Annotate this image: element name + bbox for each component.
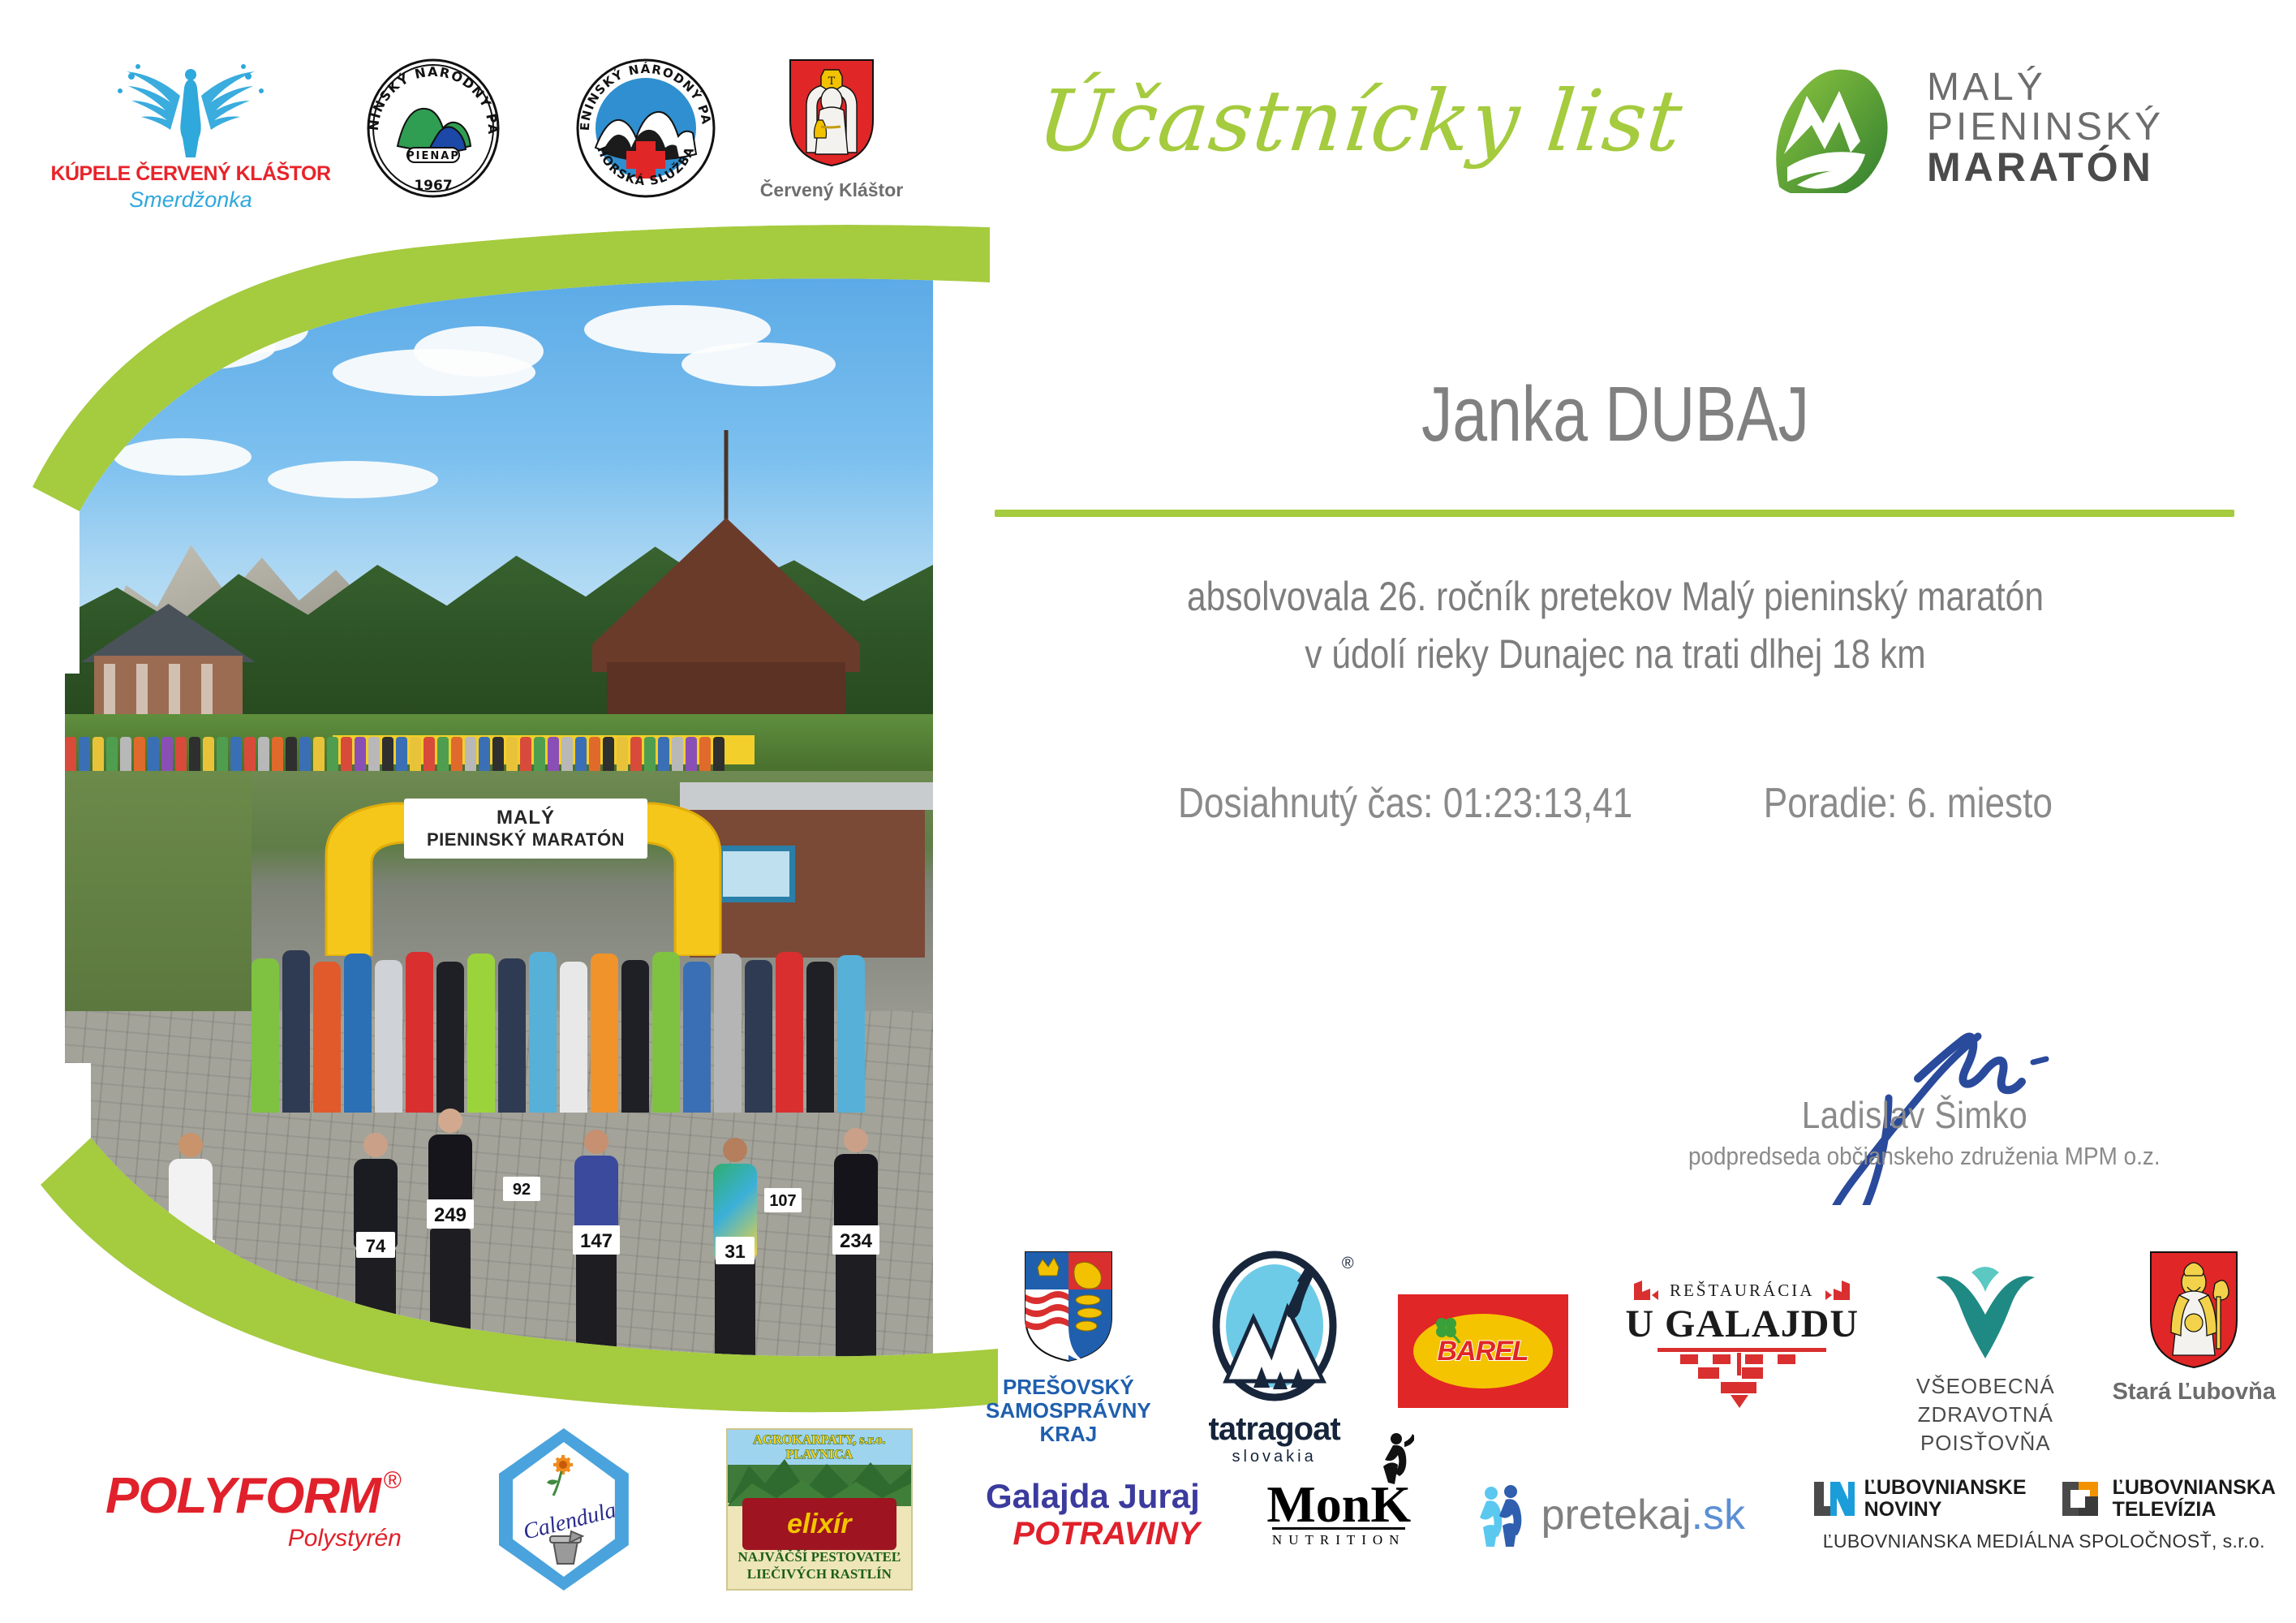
folk-embroidery-icon xyxy=(1653,1346,1831,1410)
runner: 209 xyxy=(162,1133,219,1376)
media-company-footer: ĽUBOVNIANSKA MEDIÁLNA SPOLOČNOSŤ, s.r.o. xyxy=(1823,1530,2265,1552)
photo-crowd xyxy=(65,721,933,771)
signature-block: Ladislav Šimko podpredseda občianskeho z… xyxy=(1663,1018,2166,1171)
horska-sluzba-emblem-icon: PIENINSKÝ NÁRODNÝ PARK HORSKÁ SLUŽBA xyxy=(574,57,717,200)
kck-name: KÚPELE ČERVENÝ KLÁŠTOR xyxy=(50,162,330,186)
sponsor-monk-nutrition: MonK NUTRITION xyxy=(1266,1481,1411,1549)
placement: Poradie: 6. miesto xyxy=(1764,779,2053,828)
runner-bib: 234 xyxy=(832,1225,879,1255)
vzp-label: VŠEOBECNÁ ZDRAVOTNÁ POISŤOVŇA xyxy=(1916,1372,2055,1457)
sponsor-barel: BAREL xyxy=(1398,1294,1568,1408)
event-photo-collage: MALÝ PIENINSKÝ MARATÓN xyxy=(65,268,933,1404)
signatory-name: Ladislav Šimko xyxy=(1693,1093,2136,1137)
description-line-2: v údolí rieky Dunajec na trati dlhej 18 … xyxy=(1088,626,2143,683)
water-angel-icon xyxy=(89,57,292,162)
page-title: Účastnícky list xyxy=(1034,71,1688,170)
participant-certificate: KÚPELE ČERVENÝ KLÁŠTOR Smerdžonka PIENAP xyxy=(0,0,2296,1623)
lubovnianska-televizia: ĽUBOVNIANSKA TELEVÍZIA xyxy=(2061,1477,2276,1521)
runner: 74 xyxy=(349,1133,402,1362)
folk-ornament-left-icon xyxy=(1632,1279,1660,1302)
polyform-registered-icon: ® xyxy=(384,1467,402,1495)
cerveny-klastor-label: Červený Kláštor xyxy=(760,179,903,201)
mpm-line2: PIENINSKÝ xyxy=(1927,108,2164,148)
stara-lubovna-label: Stará Ľubovňa xyxy=(2113,1379,2276,1406)
agrokarpaty-elixir-icon: AGROKARPATY, s.r.o. PLAVNICA elixír NAJV… xyxy=(726,1428,913,1591)
sponsor-row-secondary: Galajda Juraj POTRAVINY MonK NUTRITION xyxy=(986,1477,2276,1552)
monk-runner-icon xyxy=(1372,1431,1414,1487)
sponsor-presovsky-samospravny-kraj: PREŠOVSKÝ SAMOSPRÁVNY KRAJ xyxy=(986,1250,1151,1446)
ln-mark-icon xyxy=(1812,1480,1856,1518)
ltv-mark-icon xyxy=(2061,1480,2105,1518)
photo-race-start: MALÝ PIENINSKÝ MARATÓN xyxy=(65,771,933,1404)
sponsor-stara-lubovna: Stará Ľubovňa xyxy=(2113,1250,2276,1406)
tatragoat-word: tatragoat xyxy=(1209,1411,1340,1448)
svg-text:PIENAP: PIENAP xyxy=(406,150,460,162)
mpm-leaf-mountain-icon xyxy=(1765,63,1898,193)
sponsor-agrokarpaty-elixir: AGROKARPATY, s.r.o. PLAVNICA elixír NAJV… xyxy=(726,1428,913,1591)
mpm-line3: MARATÓN xyxy=(1927,147,2164,188)
psk-label: PREŠOVSKÝ SAMOSPRÁVNY KRAJ xyxy=(986,1375,1151,1446)
vzp-logo-icon xyxy=(1929,1264,2041,1366)
runner-bib: 147 xyxy=(573,1225,620,1255)
runner-bib: 107 xyxy=(764,1188,802,1212)
sponsor-vseobecna-zdravotna-poistovna: VŠEOBECNÁ ZDRAVOTNÁ POISŤOVŇA xyxy=(1916,1264,2055,1457)
barel-logo-icon: BAREL xyxy=(1398,1294,1568,1408)
runner-bib: 31 xyxy=(716,1237,755,1264)
results-block: Dosiahnutý čas: 01:23:13,41 Poradie: 6. … xyxy=(1088,779,2143,828)
sponsor-pretekaj-sk: pretekaj.sk xyxy=(1478,1483,1745,1547)
calendula-flower-icon xyxy=(542,1453,589,1497)
runner-bib: 249 xyxy=(427,1199,474,1229)
sponsor-tatragoat: ® tatragoat slovakia xyxy=(1209,1250,1340,1466)
logo-pieninsky-narodny-park: PIENAP PIENINSKÝ NÁRODNÝ PARK 1967 xyxy=(362,57,505,200)
lubovnianske-noviny: ĽUBOVNIANSKE NOVINY xyxy=(1812,1477,2027,1521)
runner-bib: 74 xyxy=(356,1232,395,1258)
galajdu-top: REŠTAURÁCIA xyxy=(1670,1281,1814,1301)
description-line-1: absolvovala 26. ročník pretekov Malý pie… xyxy=(1088,568,2143,626)
stara-lubovna-shield-icon xyxy=(2148,1250,2239,1374)
logo-pienap-horska-sluzba: PIENINSKÝ NÁRODNÝ PARK HORSKÁ SLUŽBA xyxy=(574,57,717,200)
kck-sub: Smerdžonka xyxy=(129,187,252,213)
mortar-pestle-icon xyxy=(544,1530,592,1569)
svg-text:T: T xyxy=(828,75,836,88)
sponsor-u-galajdu: REŠTAURÁCIA U GALAJDU xyxy=(1625,1279,1859,1410)
start-arch: MALÝ PIENINSKÝ MARATÓN xyxy=(308,786,738,956)
runner-bib: 209 xyxy=(166,1240,215,1269)
mpm-line1: MALÝ xyxy=(1927,68,2164,108)
monk-word: MonK xyxy=(1266,1481,1411,1528)
logo-kupele-cerveny-klastor: KÚPELE ČERVENÝ KLÁŠTOR Smerdžonka xyxy=(89,57,292,213)
calendula-hex-icon: Calendula xyxy=(499,1428,629,1591)
sponsor-lubovnianska-medialna-spolocnost: ĽUBOVNIANSKE NOVINY ĽUBOVNIANSKA TELEVÍZ… xyxy=(1812,1477,2276,1552)
arch-line1: MALÝ xyxy=(497,807,555,829)
green-divider xyxy=(995,510,2234,517)
sponsor-polyform: POLYFORM ® Polystyrén xyxy=(105,1467,402,1552)
polyform-word: POLYFORM xyxy=(105,1467,381,1525)
maly-pieninsky-maraton-logo: MALÝ PIENINSKÝ MARATÓN xyxy=(1765,63,2164,193)
polyform-sub: Polystyrén xyxy=(288,1525,402,1552)
sponsor-galajda-juraj-potraviny: Galajda Juraj POTRAVINY xyxy=(986,1477,1200,1552)
sponsor-calendula: Calendula xyxy=(499,1428,629,1591)
arch-line2: PIENINSKÝ MARATÓN xyxy=(427,829,625,850)
runner: 249 xyxy=(422,1109,479,1342)
description-block: absolvovala 26. ročník pretekov Malý pie… xyxy=(1088,568,2143,683)
partner-logo-strip: KÚPELE ČERVENÝ KLÁŠTOR Smerdžonka PIENAP xyxy=(89,57,876,213)
galajda-juraj-sub: POTRAVINY xyxy=(1013,1516,1199,1552)
pretekaj-word: pretekaj.sk xyxy=(1541,1491,1745,1539)
folk-ornament-right-icon xyxy=(1824,1279,1851,1302)
cerveny-klastor-shield-icon: T xyxy=(787,57,876,173)
runner: 31 xyxy=(706,1138,764,1380)
tatragoat-icon: ® xyxy=(1210,1250,1339,1406)
elixir-word: elixír xyxy=(787,1509,851,1540)
tatragoat-sub: slovakia xyxy=(1232,1448,1316,1466)
logo-cerveny-klastor: T Červený Kláštor xyxy=(787,57,876,201)
photo-festival-scene xyxy=(65,268,933,771)
signatory-role: podpredseda občianskeho združenia MPM o.… xyxy=(1688,1142,2141,1171)
pienap-emblem-icon: PIENAP PIENINSKÝ NÁRODNÝ PARK 1967 xyxy=(362,57,505,200)
runner: 147 xyxy=(568,1130,625,1357)
pretekaj-runners-icon xyxy=(1478,1483,1530,1547)
sponsor-row-primary: PREŠOVSKÝ SAMOSPRÁVNY KRAJ ® t xyxy=(986,1250,2276,1466)
agrokarpaty-bottom: NAJVÄČŠÍ PESTOVATEĽ LIEČIVÝCH RASTLÍN xyxy=(728,1549,911,1582)
start-arch-banner: MALÝ PIENINSKÝ MARATÓN xyxy=(404,799,647,859)
galajdu-name: U GALAJDU xyxy=(1625,1302,1859,1346)
galajda-juraj-name: Galajda Juraj xyxy=(986,1477,1200,1516)
finish-time: Dosiahnutý čas: 01:23:13,41 xyxy=(1178,779,1632,828)
psk-coat-of-arms-icon xyxy=(1023,1250,1114,1367)
recipient-name: Janka DUBAJ xyxy=(1119,370,2112,459)
runner-bib: 92 xyxy=(503,1177,540,1201)
runner: 234 xyxy=(828,1128,884,1367)
sponsor-row-left: POLYFORM ® Polystyrén xyxy=(105,1428,913,1591)
svg-text:1967: 1967 xyxy=(414,178,452,194)
